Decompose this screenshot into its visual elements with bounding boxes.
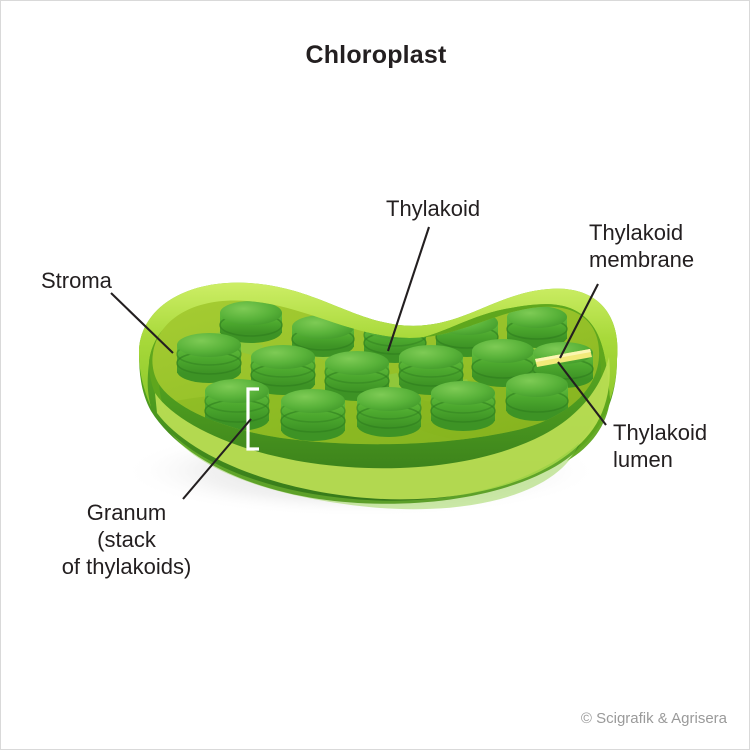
granum-stack bbox=[357, 387, 421, 437]
granum-stack bbox=[281, 389, 345, 441]
diagram-canvas: Chloroplast bbox=[0, 0, 750, 750]
label-thylakoid-membrane: Thylakoid membrane bbox=[589, 219, 694, 273]
label-granum: Granum (stack of thylakoids) bbox=[19, 499, 234, 580]
granum-stack bbox=[506, 373, 568, 421]
granum-stack bbox=[431, 381, 495, 431]
label-stroma: Stroma bbox=[41, 267, 112, 294]
label-thylakoid-lumen: Thylakoid lumen bbox=[613, 419, 707, 473]
granum-stack bbox=[177, 333, 241, 383]
label-thylakoid: Thylakoid bbox=[386, 195, 480, 222]
chloroplast-illustration bbox=[1, 1, 750, 750]
grana-group bbox=[177, 301, 593, 441]
copyright-notice: © Scigrafik & Agrisera bbox=[581, 710, 727, 727]
